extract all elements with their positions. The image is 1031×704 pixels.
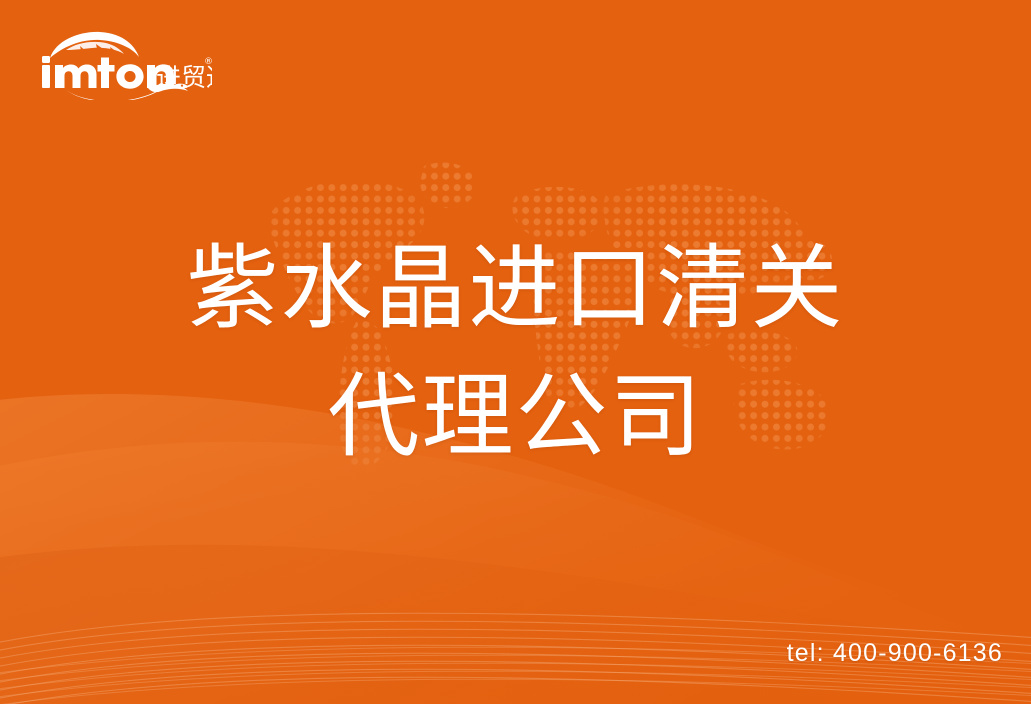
page-title: 紫水晶进口清关 代理公司 xyxy=(0,228,1031,479)
logo-chinese-name: 进贸通 xyxy=(156,63,212,92)
contact-phone[interactable]: tel: 400-900-6136 xyxy=(787,639,1003,668)
promo-banner: 进贸通 ® 紫水晶进口清关 代理公司 tel: 400-900-6136 xyxy=(0,0,1031,704)
logo-wordmark xyxy=(42,56,174,89)
globe-arc-icon xyxy=(50,32,139,58)
imton-logo[interactable]: 进贸通 ® xyxy=(36,28,212,100)
registered-trademark-icon: ® xyxy=(204,57,212,67)
headline-line-2: 代理公司 xyxy=(0,356,1031,478)
headline-line-1: 紫水晶进口清关 xyxy=(0,228,1031,350)
